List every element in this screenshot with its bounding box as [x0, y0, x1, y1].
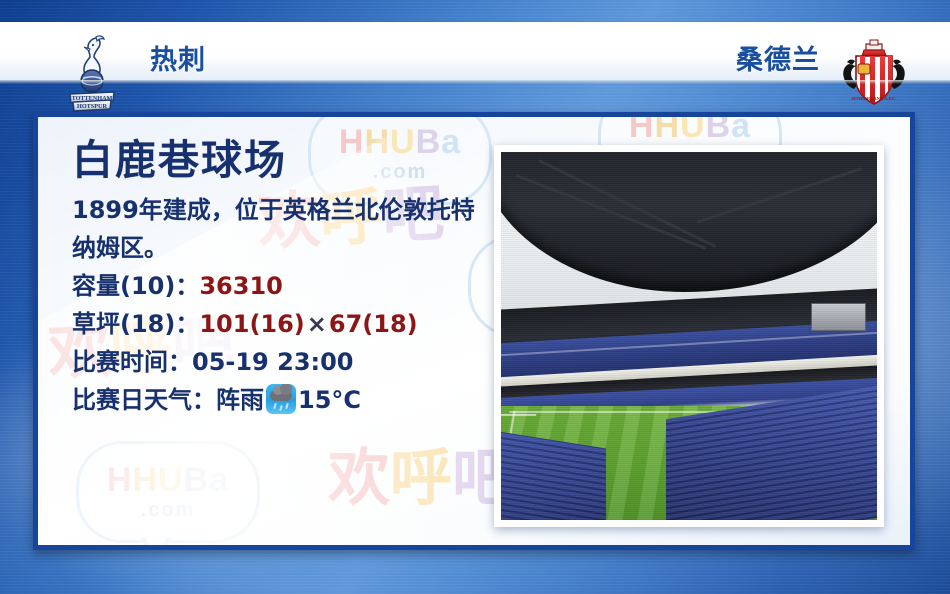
- home-team-name: 热刺: [150, 38, 206, 77]
- capacity-row: 容量(10)：36310: [72, 268, 492, 306]
- stadium-photo-frame: [494, 145, 884, 527]
- watermark-domain: .com: [141, 499, 196, 522]
- watermark-char: 欢: [328, 441, 390, 514]
- watermark-bubble: HHUBa .com: [76, 441, 260, 543]
- pitch-width-value: 67(18): [329, 310, 418, 338]
- kickoff-label: 比赛时间：: [72, 348, 192, 376]
- screenshot-canvas: TOTTENHAM HOTSPUR 热刺 桑德兰: [0, 0, 950, 594]
- sunderland-afc-crest: SUNDERLAND A.F.C.: [838, 38, 910, 110]
- tottenham-hotspur-crest: TOTTENHAM HOTSPUR: [66, 34, 118, 114]
- weather-temperature: 15°C: [298, 386, 361, 414]
- stadium-title: 白鹿巷球场: [72, 139, 492, 182]
- stadium-info-block: 白鹿巷球场 1899年建成，位于英格兰北伦敦托特纳姆区。 容量(10)：3631…: [72, 139, 492, 419]
- away-team-name: 桑德兰: [736, 38, 820, 77]
- weather-condition: 阵雨: [216, 386, 264, 414]
- svg-text:HOTSPUR: HOTSPUR: [77, 103, 107, 110]
- watermark-letters: HHUBa: [629, 117, 751, 143]
- kickoff-row: 比赛时间：05-19 23:00: [72, 344, 492, 382]
- capacity-value: 36310: [199, 272, 283, 300]
- watermark-chinese: 欢呼吧: [328, 447, 514, 509]
- match-header-bar: TOTTENHAM HOTSPUR 热刺 桑德兰: [0, 22, 950, 80]
- kickoff-value: 05-19 23:00: [192, 348, 354, 376]
- pitch-row: 草坪(18)：101(16)×67(18): [72, 306, 492, 344]
- pitch-dimension-separator: ×: [305, 310, 329, 338]
- capacity-label: 容量(10)：: [72, 272, 199, 300]
- pitch-label: 草坪(18)：: [72, 310, 199, 338]
- pitch-length-value: 101(16): [199, 310, 304, 338]
- weather-row: 比赛日天气：阵雨15°C: [72, 382, 492, 420]
- panel-inner-surface: HHUBa .com HHUBa .com HHUBa .com: [38, 117, 910, 545]
- watermark-char: 呼: [390, 441, 452, 514]
- svg-text:TOTTENHAM: TOTTENHAM: [72, 95, 113, 102]
- svg-text:SUNDERLAND A.F.C.: SUNDERLAND A.F.C.: [851, 96, 896, 101]
- stadium-description: 1899年建成，位于英格兰北伦敦托特纳姆区。: [72, 192, 482, 268]
- white-hart-lane-stadium-photo: [501, 152, 877, 520]
- shower-rain-icon: [266, 384, 296, 414]
- stadium-info-panel: HHUBa .com HHUBa .com HHUBa .com: [33, 112, 915, 550]
- watermark-letters: HHUBa: [107, 463, 229, 497]
- photo-grain-overlay: [501, 152, 877, 520]
- weather-label: 比赛日天气：: [72, 386, 216, 414]
